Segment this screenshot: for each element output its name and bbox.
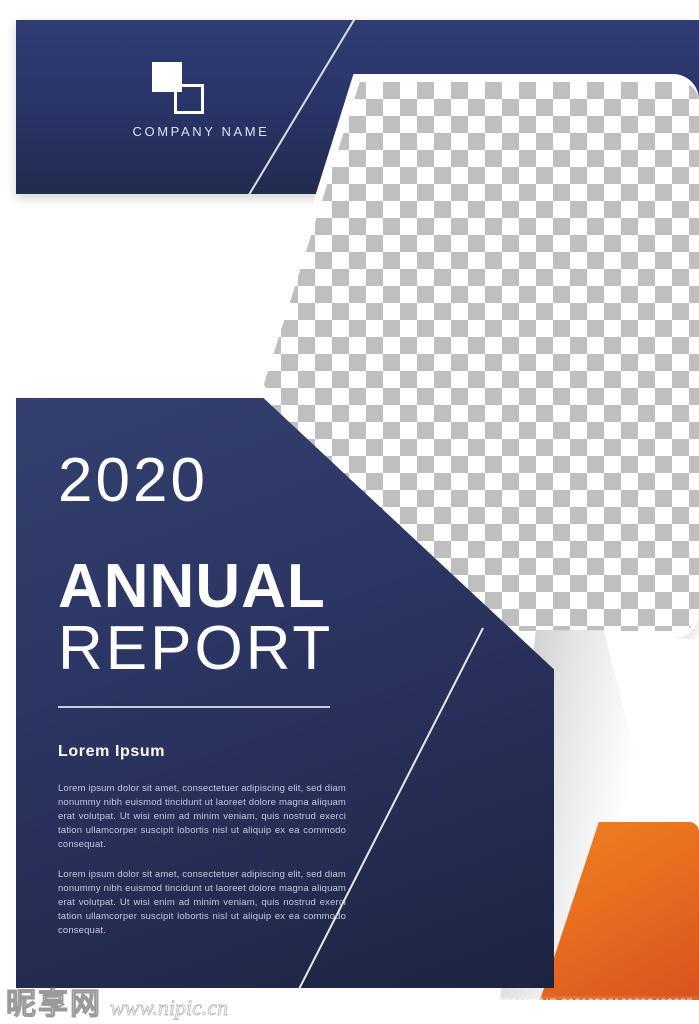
title-divider: [58, 706, 330, 708]
logo-square-outline-icon: [174, 84, 204, 114]
cover-title-annual: ANNUAL: [58, 556, 326, 618]
watermark-url: www.nipic.cn: [110, 996, 228, 1020]
cover-title-report: REPORT: [58, 618, 333, 680]
cover-year: 2020: [58, 450, 208, 512]
poster-canvas: COMPANY NAME 2020 ANNUAL REPORT Lorem Ip…: [0, 0, 699, 1024]
overlapping-squares-logo-icon: [152, 62, 208, 118]
cover-subheading: Lorem Ipsum: [58, 743, 165, 761]
watermark-brand: 昵享网: [6, 990, 102, 1020]
site-watermark: 昵享网 www.nipic.cn: [6, 990, 228, 1020]
cover-paragraph-2: Lorem ipsum dolor sit amet, consectetuer…: [58, 868, 346, 938]
watermark-id-text: ID:10673188 NO:20210326160833462085: [463, 996, 699, 1012]
company-name: COMPANY NAME: [16, 124, 386, 139]
cover-paragraph-1: Lorem ipsum dolor sit amet, consectetuer…: [58, 782, 346, 852]
